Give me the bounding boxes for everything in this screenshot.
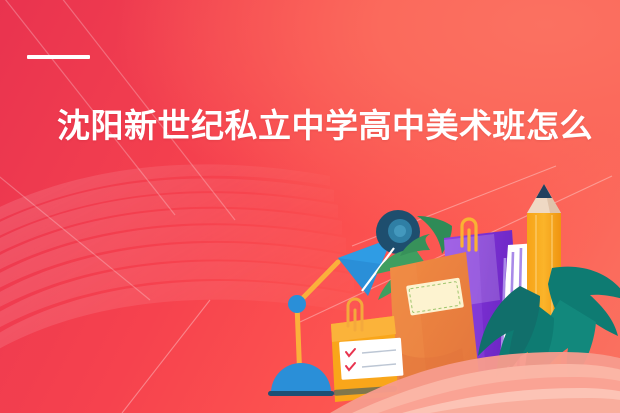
banner-artwork <box>0 0 620 413</box>
title-rule <box>27 55 90 59</box>
wave-ribbons-left <box>0 164 358 374</box>
promo-banner: 沈阳新世纪私立中学高中美术班怎么 <box>0 0 620 413</box>
page-title: 沈阳新世纪私立中学高中美术班怎么 <box>57 108 593 144</box>
